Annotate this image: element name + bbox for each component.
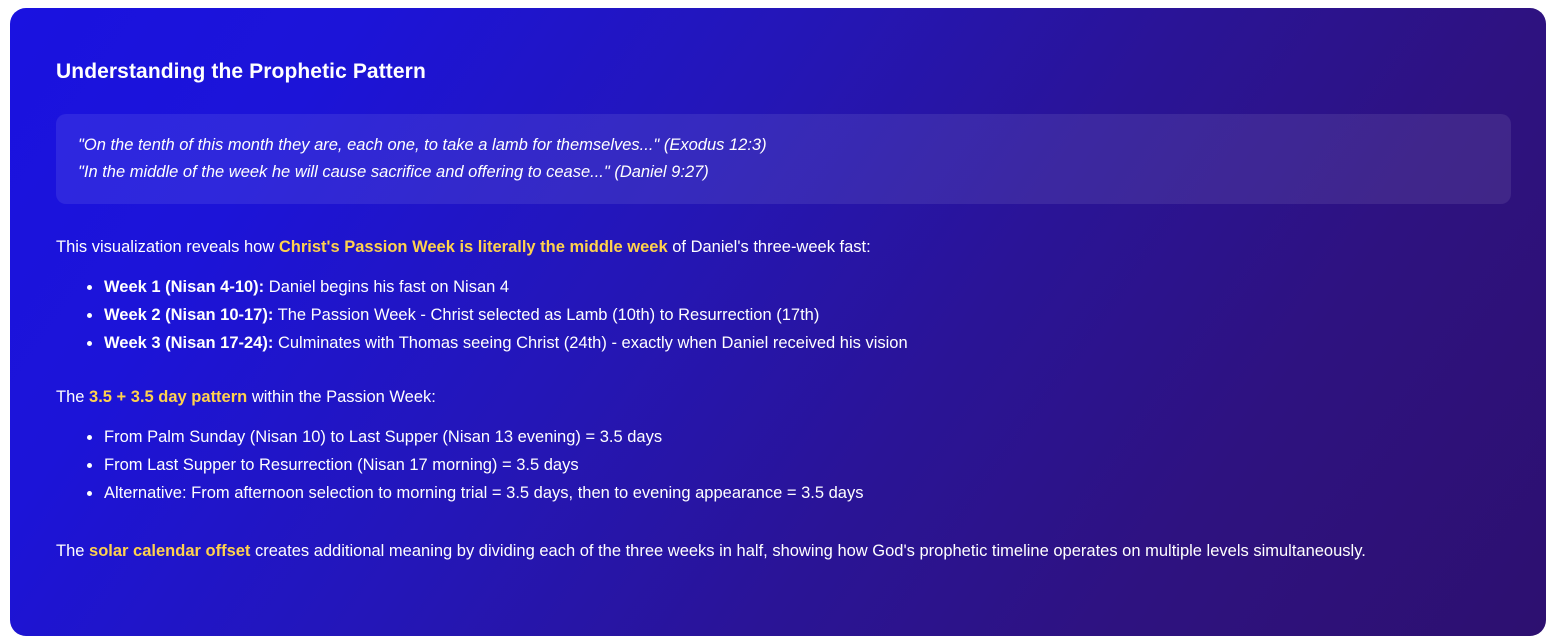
scripture-quote-line-1: "On the tenth of this month they are, ea… xyxy=(78,132,1489,159)
week-label: Week 1 (Nisan 4-10): xyxy=(104,278,264,296)
scripture-quote-box: "On the tenth of this month they are, ea… xyxy=(56,114,1511,204)
list-item: Week 2 (Nisan 10-17): The Passion Week -… xyxy=(104,302,1502,329)
closing-highlight: solar calendar offset xyxy=(89,542,250,560)
list-item: Alternative: From afternoon selection to… xyxy=(104,480,1502,507)
intro-highlight: Christ's Passion Week is literally the m… xyxy=(279,238,668,256)
panel-content: Understanding the Prophetic Pattern "On … xyxy=(10,8,1546,564)
scripture-quote-line-2: "In the middle of the week he will cause… xyxy=(78,159,1489,186)
closing-text-before: The xyxy=(56,542,89,560)
weeks-list: Week 1 (Nisan 4-10): Daniel begins his f… xyxy=(46,274,1502,357)
pattern-text-before: The xyxy=(56,388,89,406)
intro-text-after: of Daniel's three-week fast: xyxy=(668,238,871,256)
list-item: From Last Supper to Resurrection (Nisan … xyxy=(104,452,1502,479)
intro-paragraph: This visualization reveals how Christ's … xyxy=(56,234,1502,260)
closing-paragraph: The solar calendar offset creates additi… xyxy=(56,538,1496,564)
list-item: Week 3 (Nisan 17-24): Culminates with Th… xyxy=(104,330,1502,357)
pattern-text-after: within the Passion Week: xyxy=(247,388,436,406)
week-description: Culminates with Thomas seeing Christ (24… xyxy=(273,334,907,352)
page-title: Understanding the Prophetic Pattern xyxy=(56,60,1502,84)
pattern-paragraph: The 3.5 + 3.5 day pattern within the Pas… xyxy=(56,384,1502,410)
pattern-list: From Palm Sunday (Nisan 10) to Last Supp… xyxy=(46,424,1502,507)
week-description: Daniel begins his fast on Nisan 4 xyxy=(264,278,509,296)
list-item: Week 1 (Nisan 4-10): Daniel begins his f… xyxy=(104,274,1502,301)
pattern-highlight: 3.5 + 3.5 day pattern xyxy=(89,388,247,406)
week-label: Week 3 (Nisan 17-24): xyxy=(104,334,273,352)
week-label: Week 2 (Nisan 10-17): xyxy=(104,306,273,324)
list-item: From Palm Sunday (Nisan 10) to Last Supp… xyxy=(104,424,1502,451)
prophetic-pattern-panel: Understanding the Prophetic Pattern "On … xyxy=(10,8,1546,636)
week-description: The Passion Week - Christ selected as La… xyxy=(273,306,819,324)
closing-text-after: creates additional meaning by dividing e… xyxy=(250,542,1365,560)
intro-text-before: This visualization reveals how xyxy=(56,238,279,256)
